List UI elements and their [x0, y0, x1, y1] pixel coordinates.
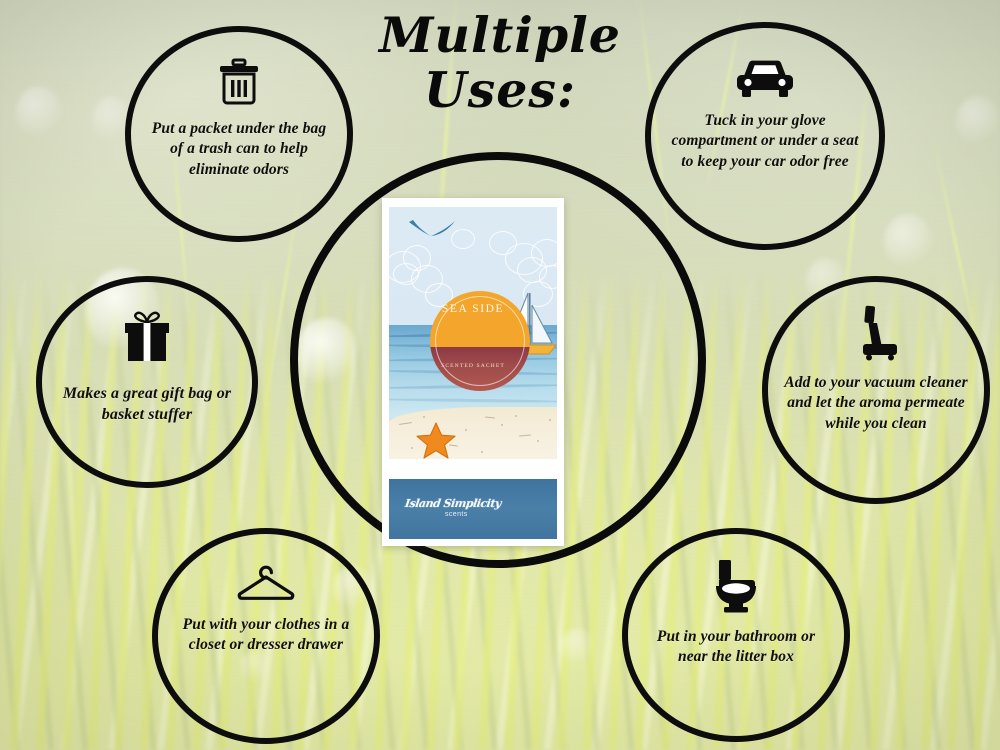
infographic-canvas: Multiple Uses: Put a packet under the ba…	[0, 0, 1000, 750]
use-circle-gift[interactable]: Makes a great gift bag or basket stuffer	[36, 276, 258, 488]
use-circle-toilet[interactable]: Put in your bathroom or near the litter …	[622, 528, 850, 742]
use-circle-trash[interactable]: Put a packet under the bag of a trash ca…	[125, 26, 353, 242]
page-title-line1: Multiple	[330, 8, 670, 63]
clothes-hanger-icon	[234, 562, 298, 607]
use-circle-hanger-text: Put with your clothes in a closet or dre…	[158, 615, 374, 656]
product-package[interactable]: SEA SIDE SCENTED SACHET Island Simplicit…	[382, 198, 564, 546]
use-circle-toilet-text: Put in your bathroom or near the litter …	[628, 627, 844, 668]
page-title: Multiple Uses:	[330, 8, 670, 118]
use-circle-vacuum[interactable]: Add to your vacuum cleaner and let the a…	[762, 276, 990, 504]
package-brand-band: Island Simplicity scents	[389, 479, 557, 539]
vacuum-cleaner-icon	[848, 304, 904, 367]
brand-logo-subtext: scents	[445, 511, 468, 518]
car-icon	[734, 58, 796, 105]
use-circle-car-text: Tuck in your glove compartment or under …	[651, 111, 879, 172]
page-title-line2: Uses:	[330, 63, 670, 118]
use-circle-car[interactable]: Tuck in your glove compartment or under …	[645, 22, 885, 250]
use-circle-hanger[interactable]: Put with your clothes in a closet or dre…	[152, 528, 380, 744]
brand-logo: Island Simplicity	[404, 497, 502, 510]
use-circle-trash-text: Put a packet under the bag of a trash ca…	[131, 119, 347, 180]
use-circle-vacuum-text: Add to your vacuum cleaner and let the a…	[768, 373, 984, 434]
gift-box-icon	[121, 310, 173, 369]
package-artwork: SEA SIDE SCENTED SACHET	[389, 207, 557, 459]
starfish-icon	[415, 422, 457, 459]
product-name: SEA SIDE	[389, 303, 557, 315]
trash-can-icon	[216, 58, 262, 111]
toilet-icon	[710, 558, 762, 619]
use-circle-gift-text: Makes a great gift bag or basket stuffer	[42, 383, 252, 425]
product-subtitle: SCENTED SACHET	[389, 363, 557, 369]
seagull-icon	[407, 219, 457, 250]
